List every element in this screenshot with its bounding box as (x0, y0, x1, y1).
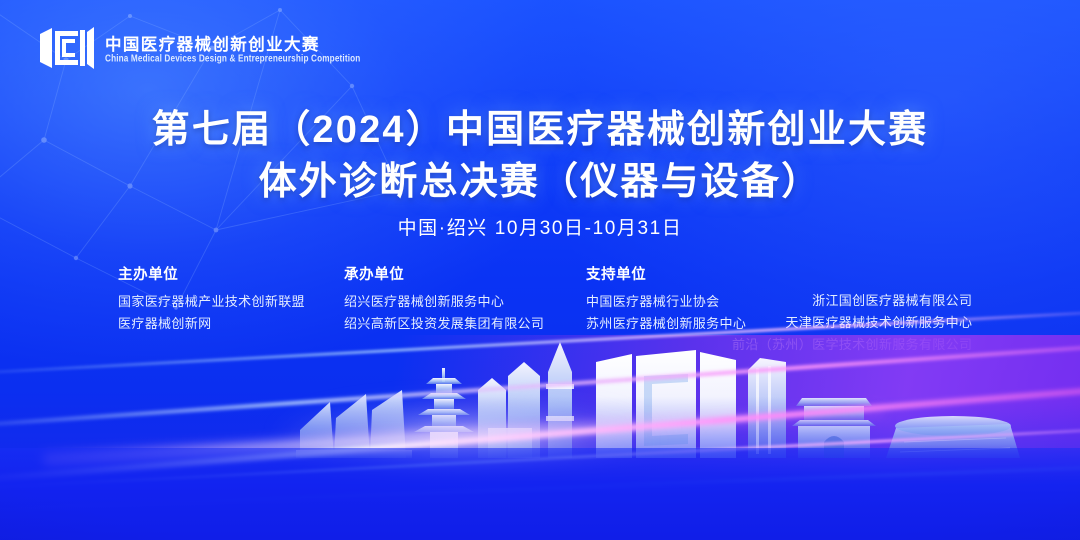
brand-logo: 中国医疗器械创新创业大赛 China Medical Devices Desig… (38, 22, 360, 74)
organizer-item: 浙江国创医疗器械有限公司 (732, 290, 972, 312)
brand-name-en: China Medical Devices Design & Entrepren… (105, 54, 360, 64)
brand-name-cn: 中国医疗器械创新创业大赛 (105, 37, 360, 54)
organizer-item: 绍兴医疗器械创新服务中心 (344, 291, 586, 313)
organizer-heading: 支持单位 (586, 266, 732, 284)
organizer-item: 天津医疗器械技术创新服务中心 (732, 312, 972, 334)
organizer-heading: 承办单位 (344, 266, 586, 284)
organizer-item: 中国医疗器械行业协会 (586, 291, 732, 313)
organizer-column-undertaker: 承办单位 绍兴医疗器械创新服务中心 绍兴高新区投资发展集团有限公司 (344, 266, 586, 335)
poster-title: 第七届（2024）中国医疗器械创新创业大赛 体外诊断总决赛（仪器与设备） (0, 106, 1080, 206)
organizer-column-host: 主办单位 国家医疗器械产业技术创新联盟 医疗器械创新网 (118, 266, 344, 335)
organizer-heading: 主办单位 (118, 266, 344, 284)
ground-plane (0, 448, 1080, 540)
organizer-column-supporter: 支持单位 中国医疗器械行业协会 苏州医疗器械创新服务中心 (586, 266, 732, 335)
poster-canvas: 中国医疗器械创新创业大赛 China Medical Devices Desig… (0, 0, 1080, 540)
organizer-item: 国家医疗器械产业技术创新联盟 (118, 291, 344, 313)
open-book-door-logo-icon (38, 22, 94, 74)
title-line-1: 第七届（2024）中国医疗器械创新创业大赛 (0, 106, 1080, 154)
title-line-2: 体外诊断总决赛（仪器与设备） (0, 158, 1080, 206)
bottom-scene (0, 335, 1080, 540)
event-location-date: 中国·绍兴 10月30日-10月31日 (0, 216, 1080, 242)
